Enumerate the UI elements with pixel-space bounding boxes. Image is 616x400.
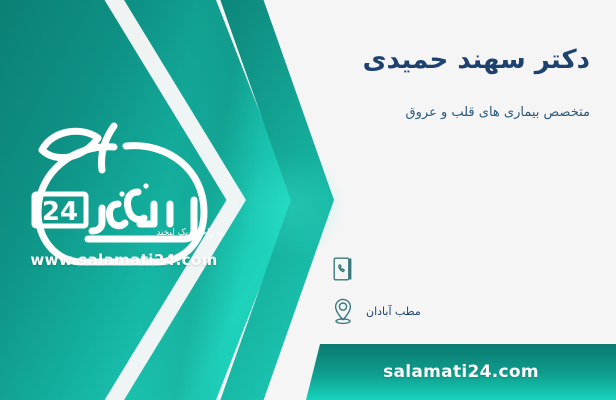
logo-url: www.salamati24.com xyxy=(24,251,224,269)
contact-row-phone[interactable] xyxy=(330,248,590,290)
doctor-name: دکتر سهند حمیدی xyxy=(290,44,590,77)
contact-block: مطب آبادان xyxy=(330,248,590,332)
contact-row-address[interactable]: مطب آبادان xyxy=(330,290,590,332)
phonebook-icon xyxy=(330,254,356,284)
map-pin-icon xyxy=(330,296,356,326)
business-card: 24 به راحتی یک لبخند www.salamati24.com … xyxy=(0,0,616,400)
doctor-specialty: متخصص بیماری های قلب و عروق xyxy=(270,104,590,122)
logo-tagline: به راحتی یک لبخند xyxy=(118,228,224,238)
footer-website[interactable]: salamati24.com xyxy=(383,362,539,382)
logo-24-badge: 24 xyxy=(34,194,86,227)
contact-address-label: مطب آبادان xyxy=(366,305,421,318)
apple-leaf-logo-icon: 24 xyxy=(18,108,238,273)
footer-bar: salamati24.com xyxy=(306,344,616,400)
logo-badge-number: 24 xyxy=(42,197,78,227)
salamati24-logo: 24 xyxy=(18,108,238,273)
